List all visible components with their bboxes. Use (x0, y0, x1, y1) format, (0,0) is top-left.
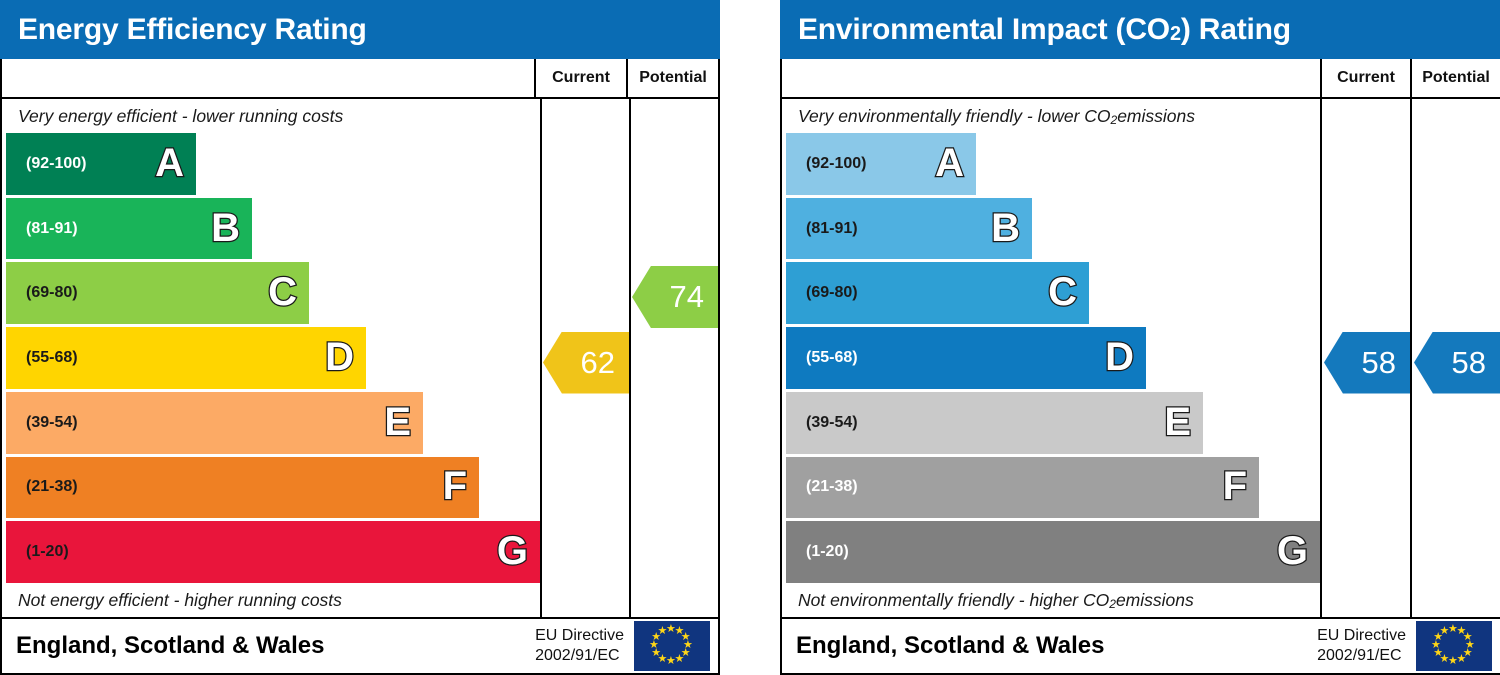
certificate-body: CurrentPotentialVery energy efficient - … (0, 59, 720, 675)
band-range-B: (81-91) (6, 220, 78, 238)
bands-column: Very energy efficient - lower running co… (2, 99, 540, 617)
band-letter-B: B (211, 208, 240, 248)
band-letter-D: D (325, 337, 354, 377)
chart-title-energy-efficiency: Energy Efficiency Rating (0, 0, 720, 59)
chart-title-environmental-impact: Environmental Impact (CO2) Rating (780, 0, 1500, 59)
band-bar-C: (69-80)C (6, 262, 309, 324)
band-bar-E: (39-54)E (786, 392, 1203, 454)
band-letter-G: G (1277, 531, 1308, 571)
chart-title-text: Environmental Impact (CO (798, 13, 1170, 47)
band-range-E: (39-54) (786, 414, 858, 432)
band-row-C: (69-80)C (786, 262, 1320, 324)
band-bar-A: (92-100)A (6, 133, 196, 195)
bands-list: (92-100)A(81-91)B(69-80)C(55-68)D(39-54)… (2, 133, 540, 583)
band-letter-C: C (1048, 272, 1077, 312)
band-range-F: (21-38) (786, 478, 858, 496)
band-range-G: (1-20) (6, 543, 69, 561)
band-range-D: (55-68) (6, 349, 78, 367)
header-blank-cell (782, 59, 1320, 97)
band-bar-F: (21-38)F (6, 457, 479, 519)
band-range-A: (92-100) (786, 155, 866, 173)
band-bar-B: (81-91)B (786, 198, 1032, 260)
eu-flag-icon: ★★★★★★★★★★★★ (1416, 621, 1492, 671)
band-letter-E: E (1164, 402, 1191, 442)
certificate-energy-efficiency: Energy Efficiency RatingCurrentPotential… (0, 0, 720, 675)
band-row-D: (55-68)D (6, 327, 540, 389)
band-range-C: (69-80) (786, 284, 858, 302)
band-letter-B: B (991, 208, 1020, 248)
bottom-caption: Not environmentally friendly - higher CO… (782, 583, 1320, 617)
potential-rating-marker: 58 (1414, 332, 1500, 394)
potential-rating-marker: 74 (632, 266, 718, 328)
current-value-column: 62 (540, 99, 629, 617)
band-bar-D: (55-68)D (786, 327, 1146, 389)
band-row-D: (55-68)D (786, 327, 1320, 389)
bottom-caption: Not energy efficient - higher running co… (2, 583, 540, 617)
band-letter-C: C (268, 272, 297, 312)
band-row-E: (39-54)E (6, 392, 540, 454)
footer-region-label: England, Scotland & Wales (796, 632, 1317, 660)
band-bar-E: (39-54)E (6, 392, 423, 454)
band-bar-G: (1-20)G (786, 521, 1320, 583)
certificate-body: CurrentPotentialVery environmentally fri… (780, 59, 1500, 675)
chart-title-suffix: ) Rating (1181, 13, 1291, 47)
band-row-A: (92-100)A (6, 133, 540, 195)
band-range-C: (69-80) (6, 284, 78, 302)
band-letter-E: E (384, 402, 411, 442)
band-bar-G: (1-20)G (6, 521, 540, 583)
certificate-environmental-impact: Environmental Impact (CO2) RatingCurrent… (780, 0, 1500, 675)
band-row-F: (21-38)F (6, 457, 540, 519)
band-letter-D: D (1105, 337, 1134, 377)
potential-value-column: 58 (1410, 99, 1500, 617)
band-letter-G: G (497, 531, 528, 571)
band-row-B: (81-91)B (786, 198, 1320, 260)
footer-directive-label: EU Directive2002/91/EC (1317, 626, 1416, 665)
chart-area: Very environmentally friendly - lower CO… (782, 99, 1500, 617)
column-header-row: CurrentPotential (2, 59, 718, 99)
band-letter-F: F (443, 467, 467, 507)
epc-certificates-page: Energy Efficiency RatingCurrentPotential… (0, 0, 1500, 675)
header-blank-cell (2, 59, 534, 97)
current-value-column: 58 (1320, 99, 1410, 617)
current-rating-marker: 62 (543, 332, 629, 394)
band-row-F: (21-38)F (786, 457, 1320, 519)
band-row-E: (39-54)E (786, 392, 1320, 454)
band-row-B: (81-91)B (6, 198, 540, 260)
band-letter-A: A (935, 143, 964, 183)
footer-directive-label: EU Directive2002/91/EC (535, 626, 634, 665)
band-bar-F: (21-38)F (786, 457, 1259, 519)
column-header-current: Current (1320, 59, 1410, 97)
band-letter-F: F (1223, 467, 1247, 507)
certificate-footer: England, Scotland & WalesEU Directive200… (2, 617, 718, 673)
band-range-D: (55-68) (786, 349, 858, 367)
column-header-potential: Potential (626, 59, 718, 97)
eu-flag-icon: ★★★★★★★★★★★★ (634, 621, 710, 671)
current-rating-marker: 58 (1324, 332, 1410, 394)
band-letter-A: A (155, 143, 184, 183)
bands-column: Very environmentally friendly - lower CO… (782, 99, 1320, 617)
potential-value-column: 74 (629, 99, 718, 617)
band-bar-D: (55-68)D (6, 327, 366, 389)
band-range-A: (92-100) (6, 155, 86, 173)
band-range-E: (39-54) (6, 414, 78, 432)
certificate-footer: England, Scotland & WalesEU Directive200… (782, 617, 1500, 673)
band-row-C: (69-80)C (6, 262, 540, 324)
band-range-F: (21-38) (6, 478, 78, 496)
column-header-potential: Potential (1410, 59, 1500, 97)
band-bar-A: (92-100)A (786, 133, 976, 195)
top-caption: Very environmentally friendly - lower CO… (782, 99, 1320, 133)
band-row-G: (1-20)G (6, 521, 540, 583)
column-header-row: CurrentPotential (782, 59, 1500, 99)
chart-area: Very energy efficient - lower running co… (2, 99, 718, 617)
top-caption: Very energy efficient - lower running co… (2, 99, 540, 133)
band-bar-C: (69-80)C (786, 262, 1089, 324)
column-header-current: Current (534, 59, 626, 97)
band-bar-B: (81-91)B (6, 198, 252, 260)
band-row-G: (1-20)G (786, 521, 1320, 583)
bands-list: (92-100)A(81-91)B(69-80)C(55-68)D(39-54)… (782, 133, 1320, 583)
band-range-B: (81-91) (786, 220, 858, 238)
band-row-A: (92-100)A (786, 133, 1320, 195)
band-range-G: (1-20) (786, 543, 849, 561)
footer-region-label: England, Scotland & Wales (16, 632, 535, 660)
